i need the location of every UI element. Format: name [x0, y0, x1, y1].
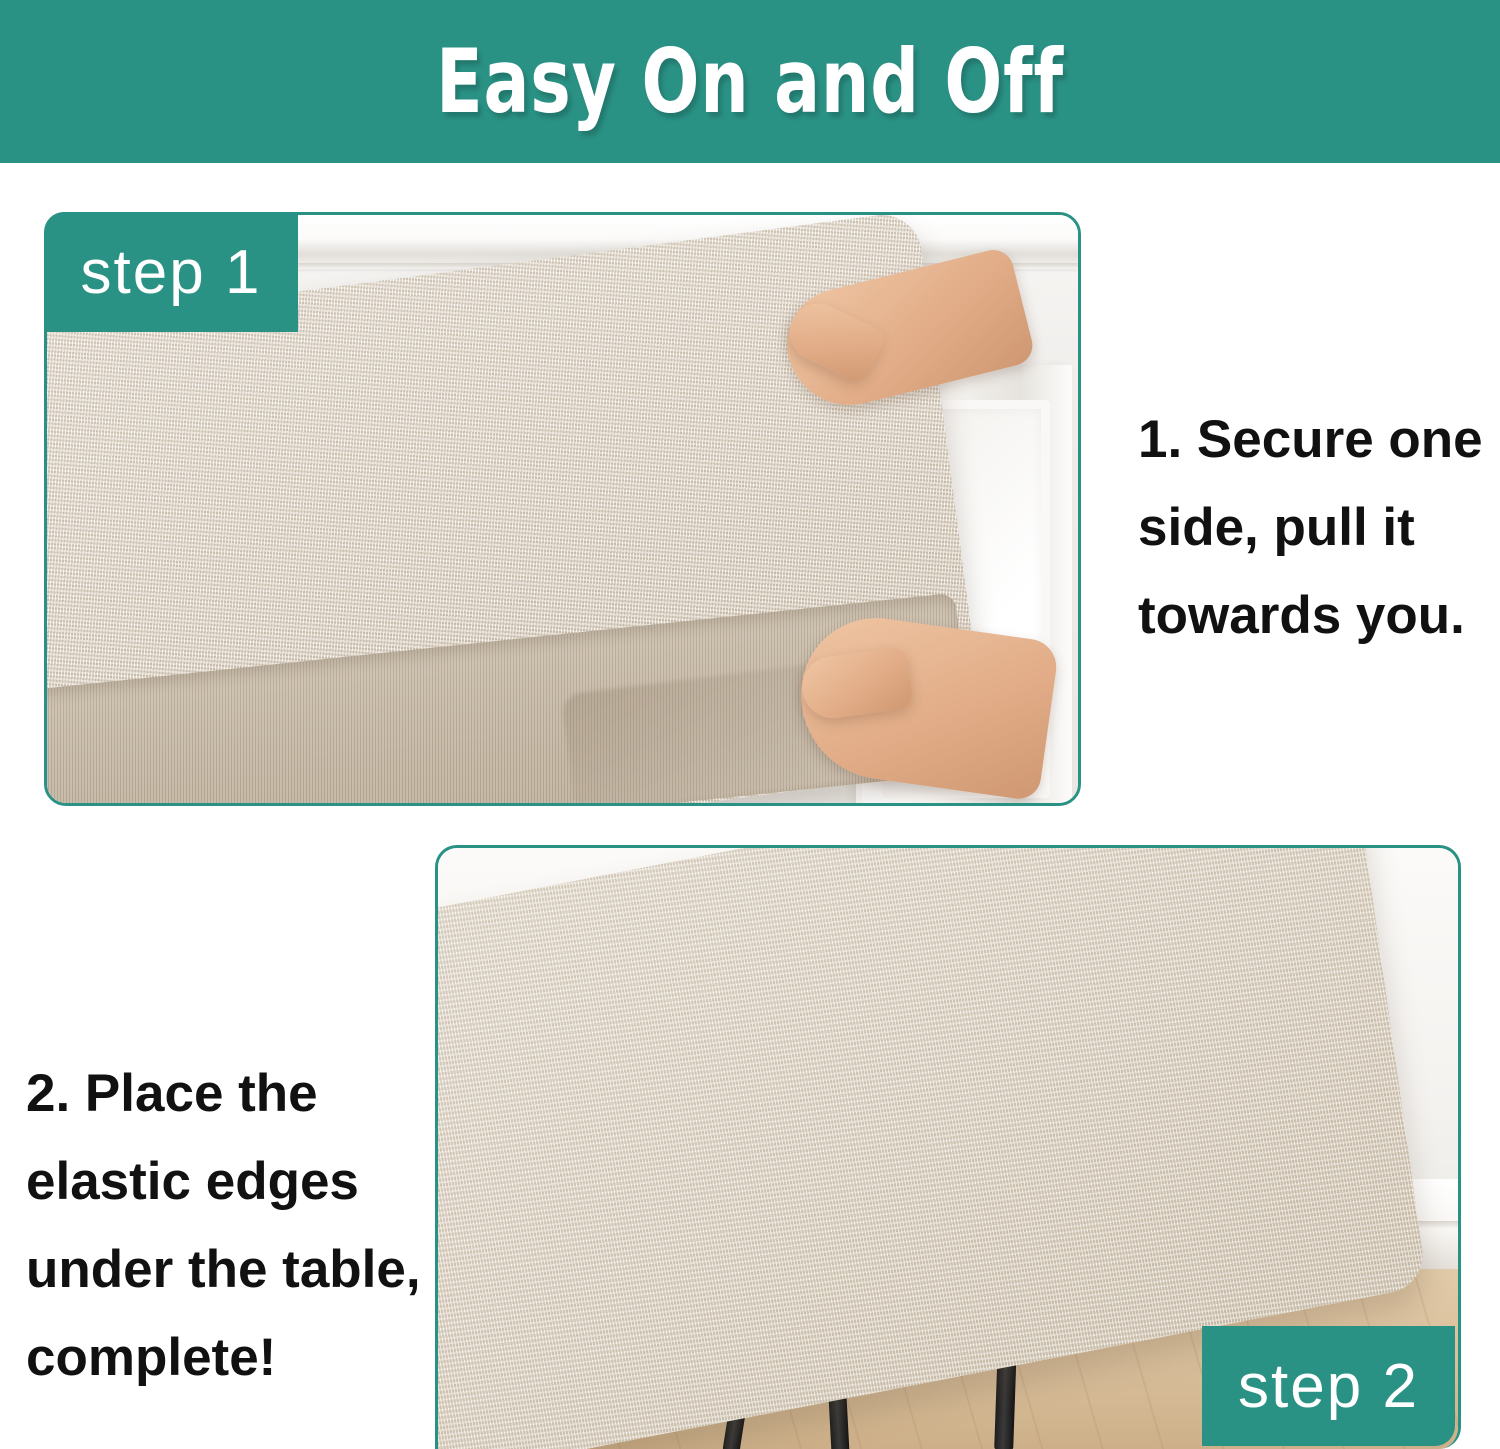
page-title: Easy On and Off — [436, 38, 1064, 126]
step-2-instruction: 2. Place the elastic edges under the tab… — [26, 1050, 426, 1402]
step-1-badge: step 1 — [44, 212, 298, 332]
header-banner: Easy On and Off — [0, 0, 1500, 163]
step-2-badge: step 2 — [1202, 1326, 1455, 1446]
step-1-instruction: 1. Secure one side, pull it towards you. — [1138, 396, 1483, 660]
